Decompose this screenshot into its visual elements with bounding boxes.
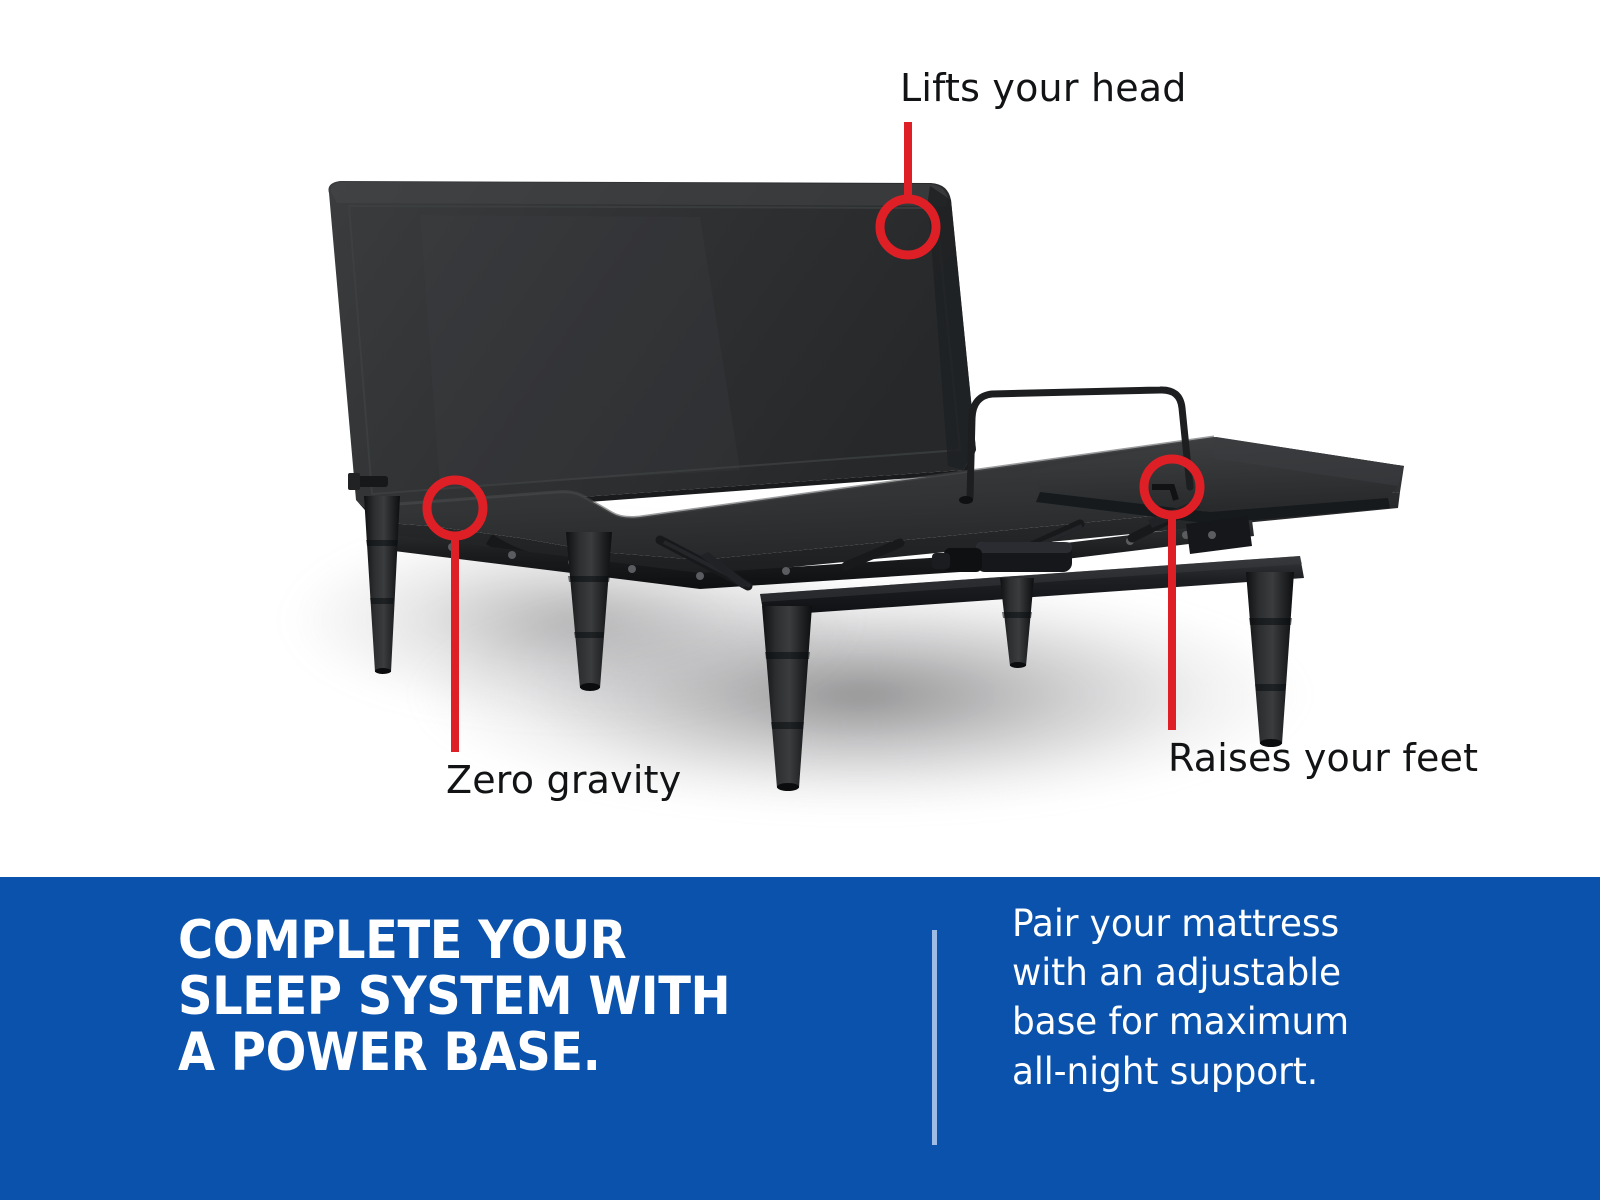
promo-banner: COMPLETE YOUR SLEEP SYSTEM WITH A POWER … <box>0 877 1600 1200</box>
leg-front-left <box>762 606 812 791</box>
retainer-wire-socket-left <box>959 496 973 504</box>
callout-label-lifts-your-head: Lifts your head <box>900 66 1187 110</box>
headline-line-3: A POWER BASE. <box>178 1025 812 1081</box>
callout-label-zero-gravity: Zero gravity <box>446 758 681 802</box>
callout-label-raises-your-feet: Raises your feet <box>1168 736 1478 780</box>
headline-line-2: SLEEP SYSTEM WITH <box>178 969 812 1025</box>
leg-front-right <box>1246 572 1294 747</box>
subcopy-line-1: Pair your mattress <box>1012 899 1429 948</box>
banner-vertical-divider <box>932 930 937 1145</box>
banner-subcopy: Pair your mattress with an adjustable ba… <box>1012 899 1429 1096</box>
promo-banner-page: Lifts your head Zero gravity Raises your… <box>0 0 1600 1200</box>
subcopy-line-2: with an adjustable <box>1012 948 1429 997</box>
leg-back-mid <box>566 532 612 691</box>
hero-product-image: Lifts your head Zero gravity Raises your… <box>0 0 1600 877</box>
banner-headline: COMPLETE YOUR SLEEP SYSTEM WITH A POWER … <box>178 913 812 1081</box>
subcopy-line-3: base for maximum <box>1012 997 1429 1046</box>
headline-line-1: COMPLETE YOUR <box>178 913 812 969</box>
leg-back-left <box>364 496 400 674</box>
subcopy-line-4: all-night support. <box>1012 1047 1429 1096</box>
leg-back-center <box>1000 578 1034 668</box>
